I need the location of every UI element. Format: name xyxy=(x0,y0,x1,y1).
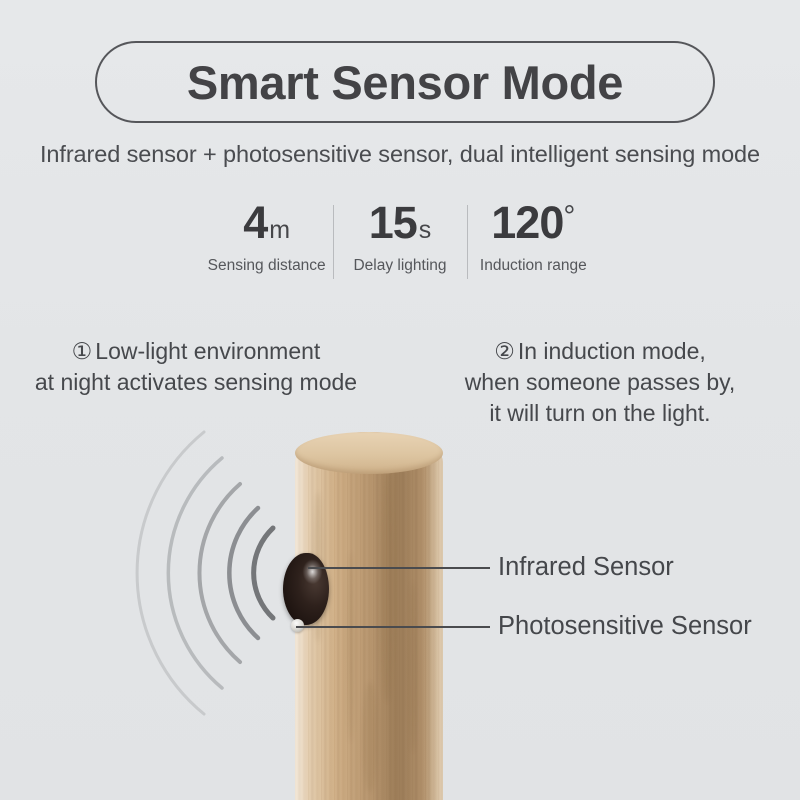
note-line: ②In induction mode, xyxy=(440,336,760,367)
stat-number: 4 xyxy=(243,200,267,245)
page-subtitle: Infrared sensor + photosensitive sensor,… xyxy=(0,141,800,168)
note-marker: ② xyxy=(494,338,518,364)
callout-label-infrared-sensor: Infrared Sensor xyxy=(498,553,674,582)
callout-label-photosensitive-sensor: Photosensitive Sensor xyxy=(498,612,752,641)
stat-unit: s xyxy=(419,218,432,243)
page-title: Smart Sensor Mode xyxy=(95,41,715,123)
spec-stats-row: 4 m Sensing distance 15 s Delay lighting… xyxy=(200,200,600,286)
stat-label: Delay lighting xyxy=(353,257,446,275)
infographic-page: Smart Sensor Mode Infrared sensor + phot… xyxy=(0,0,800,800)
infrared-sensor-dome xyxy=(283,553,329,625)
stat-label: Sensing distance xyxy=(208,257,326,275)
note-line-2: when someone passes by, xyxy=(440,367,760,398)
stat-induction-range: 120 ° Induction range xyxy=(467,200,600,275)
note-line-1: Low-light environment xyxy=(95,338,320,364)
stat-value: 120 ° xyxy=(491,200,575,248)
stat-unit: ° xyxy=(563,202,575,232)
stat-sensing-distance: 4 m Sensing distance xyxy=(200,200,333,275)
stat-number: 15 xyxy=(369,200,417,245)
stat-delay-lighting: 15 s Delay lighting xyxy=(333,200,466,275)
stat-value: 4 m xyxy=(243,200,290,248)
stat-number: 120 xyxy=(491,200,563,245)
stat-unit: m xyxy=(269,218,290,243)
note-low-light: ①Low-light environment at night activate… xyxy=(16,336,376,398)
note-marker: ① xyxy=(72,338,96,364)
note-line: ①Low-light environment xyxy=(16,336,376,367)
note-induction-mode: ②In induction mode, when someone passes … xyxy=(440,336,760,429)
wooden-cylinder-top-cap xyxy=(295,432,443,474)
leader-line-photosensitive xyxy=(296,626,490,628)
stat-label: Induction range xyxy=(480,257,587,275)
note-line-2: at night activates sensing mode xyxy=(16,367,376,398)
note-line-1: In induction mode, xyxy=(518,338,706,364)
leader-line-infrared xyxy=(308,567,490,569)
product-illustration: Infrared Sensor Photosensitive Sensor xyxy=(0,420,800,800)
stat-value: 15 s xyxy=(369,200,432,248)
